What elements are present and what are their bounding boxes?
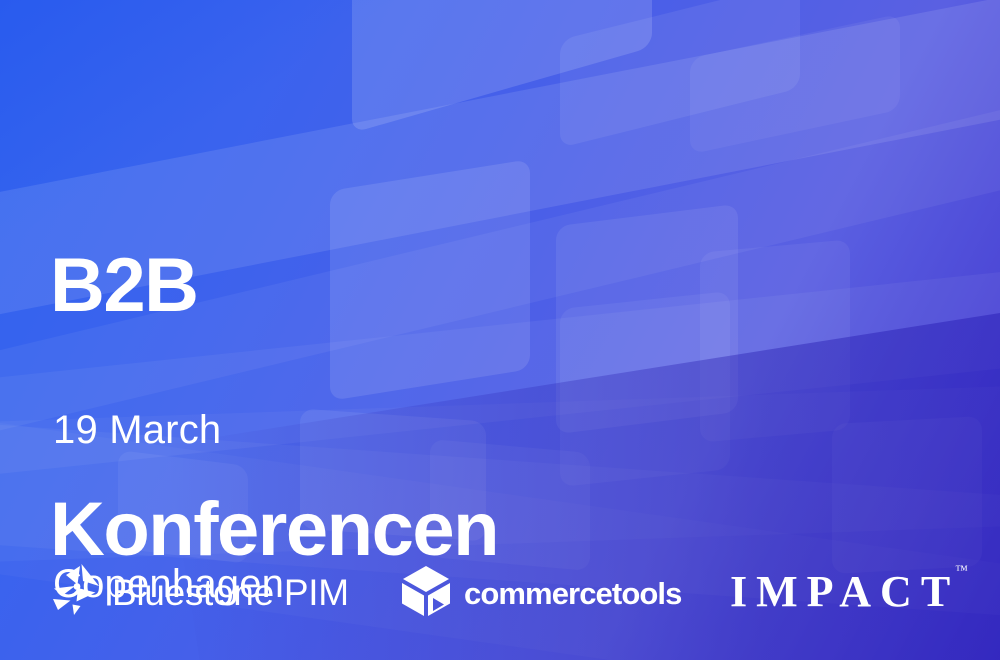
perspective-panel-7 — [560, 291, 730, 487]
event-date: 19 March — [53, 405, 284, 456]
bluestone-wordmark: Bluestone PIM — [112, 574, 349, 611]
bluestone-shards-icon — [50, 562, 108, 623]
isometric-cube-icon — [400, 564, 452, 623]
perspective-panel-2 — [560, 0, 800, 148]
perspective-panel-3 — [690, 14, 900, 155]
perspective-panel-11 — [832, 416, 982, 574]
trademark-symbol: ™ — [955, 562, 968, 577]
perspective-panel-5 — [556, 204, 738, 434]
logo-impact[interactable]: IMPACT™ — [730, 570, 972, 614]
perspective-panel-6 — [700, 239, 850, 442]
conference-banner: B2B Konferencen 19 March Copenhagen — [0, 0, 1000, 660]
logo-commercetools[interactable]: commercetools — [400, 564, 681, 623]
commercetools-wordmark: commercetools — [464, 578, 681, 609]
logo-bluestone-pim[interactable]: Bluestone PIM — [50, 562, 349, 623]
impact-wordmark: IMPACT™ — [730, 570, 972, 614]
sponsor-logo-row: Bluestone PIM commercetools IMPACT™ — [0, 556, 1000, 626]
impact-wordmark-text: IMPACT — [730, 567, 959, 616]
